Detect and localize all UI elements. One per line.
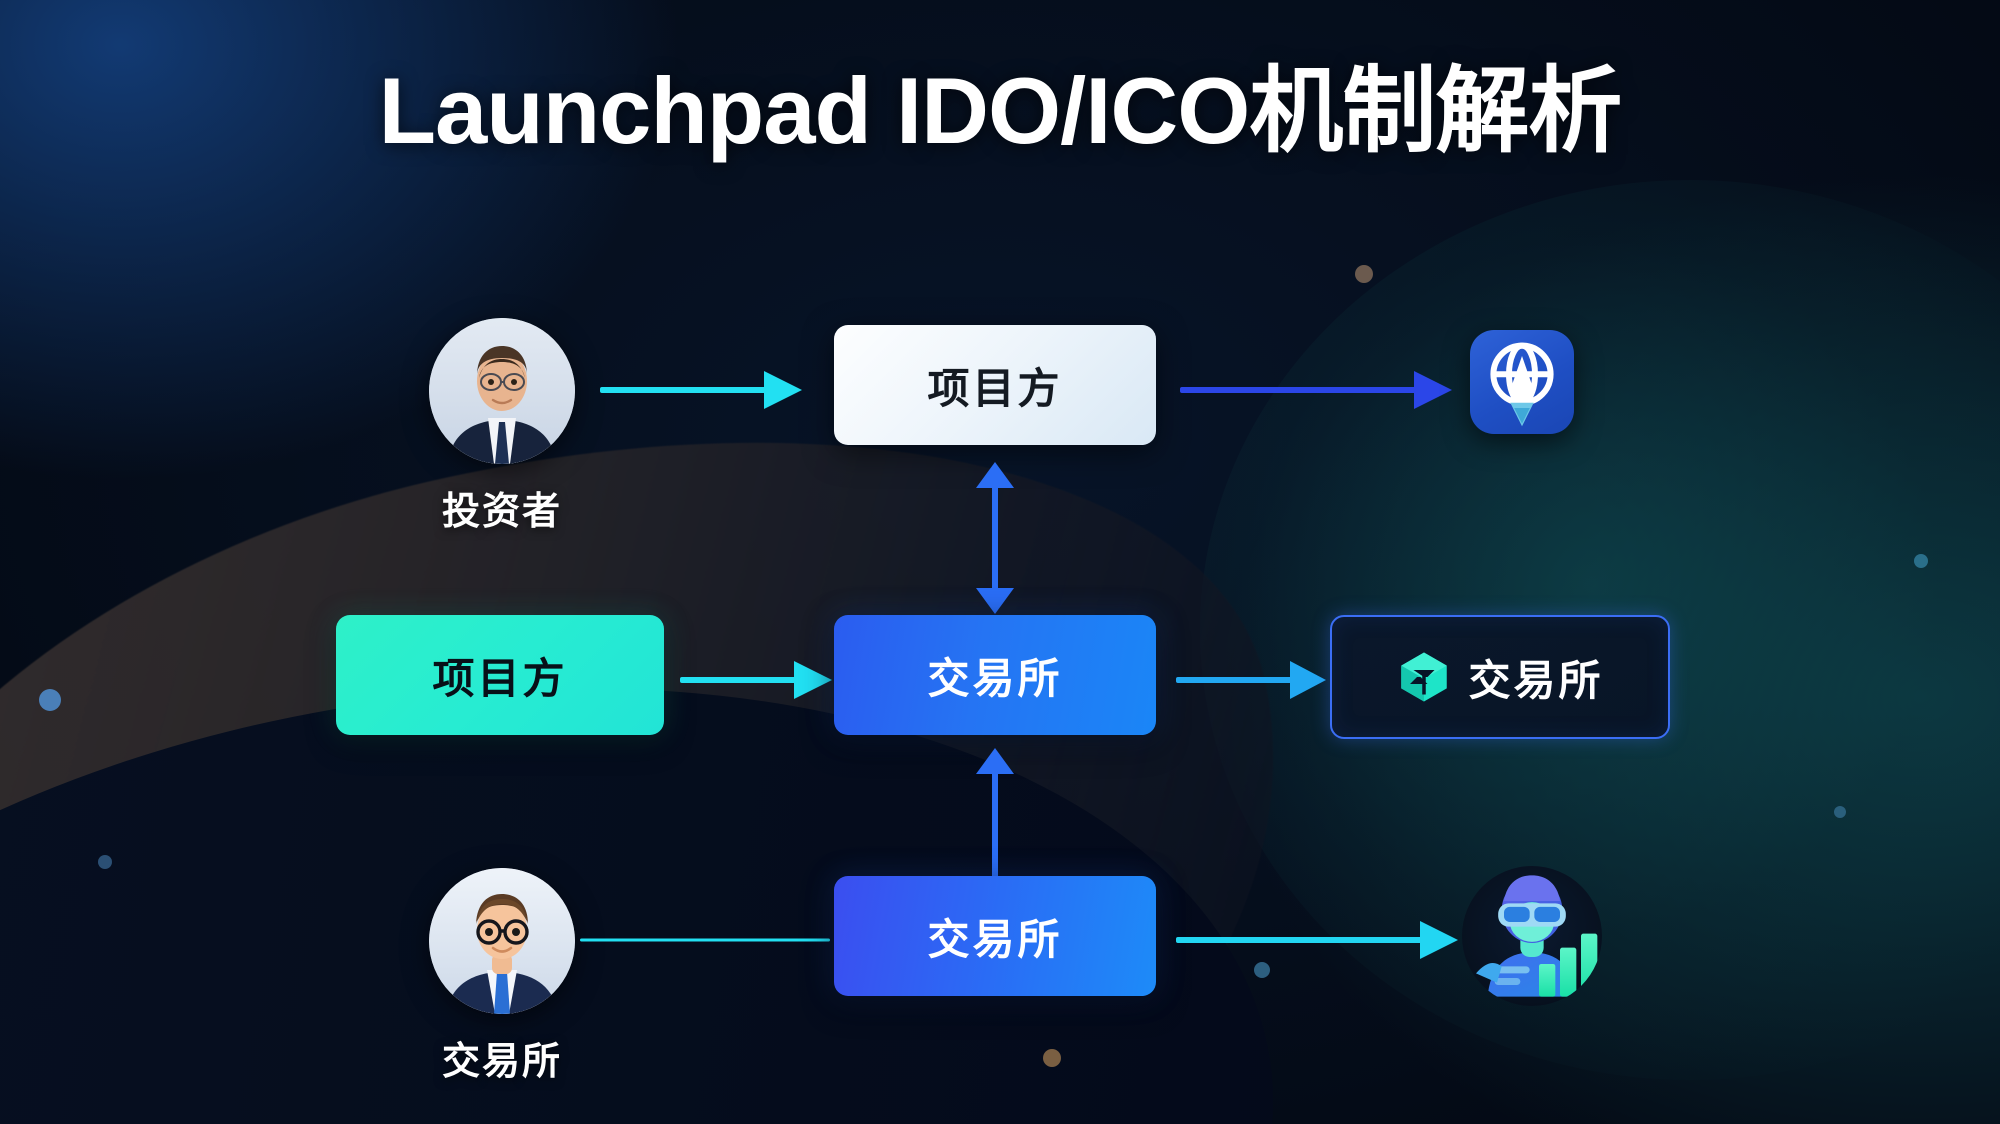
box-project-party-teal[interactable]: 项目方 — [336, 615, 664, 735]
exchange-avatar — [429, 868, 575, 1014]
connector-bottom-up-arrow — [991, 748, 999, 888]
decor-dot — [39, 689, 61, 711]
arrow-exchange-user-to-exchange — [580, 936, 830, 944]
investor-avatar-label: 投资者 — [402, 480, 602, 535]
box-label: 项目方 — [432, 645, 567, 706]
vr-analytics-icon[interactable] — [1462, 866, 1602, 1006]
swoosh-shape-primary — [0, 308, 1381, 1124]
arrow-exchange-to-analytics — [1176, 936, 1456, 944]
arrow-project-to-launchpad — [1180, 386, 1450, 394]
investor-avatar-block: 投资者 — [402, 318, 602, 535]
arrow-investor-to-project — [600, 386, 800, 394]
arrow-exchange-to-exchange-logo — [1176, 676, 1326, 684]
globe-rocket-icon[interactable] — [1470, 330, 1574, 434]
infographic-canvas: Launchpad IDO/ICO机制解析 — [0, 0, 2000, 1124]
decor-dot — [1355, 265, 1373, 283]
arrow-project-to-exchange — [680, 676, 830, 684]
box-label: 交易所 — [927, 906, 1062, 967]
box-label: 项目方 — [927, 355, 1062, 416]
box-label: 交易所 — [927, 645, 1062, 706]
box-exchange-middle[interactable]: 交易所 — [834, 615, 1156, 735]
decor-dot — [1254, 962, 1270, 978]
decor-dot — [1043, 1049, 1061, 1067]
investor-avatar — [429, 318, 575, 464]
box-project-party-top[interactable]: 项目方 — [834, 325, 1156, 445]
decor-dot — [1834, 806, 1846, 818]
box-exchange-branded[interactable]: 交易所 — [1330, 615, 1670, 739]
exchange-avatar-label: 交易所 — [402, 1030, 602, 1085]
decor-dot — [98, 855, 112, 869]
exchange-avatar-block: 交易所 — [402, 868, 602, 1085]
decor-dot — [1914, 554, 1928, 568]
cube-logo-icon — [1396, 649, 1452, 705]
connector-top-bidirectional-arrow — [991, 462, 999, 614]
box-exchange-bottom[interactable]: 交易所 — [834, 876, 1156, 996]
page-title: Launchpad IDO/ICO机制解析 — [0, 62, 2000, 161]
box-label: 交易所 — [1468, 647, 1603, 708]
